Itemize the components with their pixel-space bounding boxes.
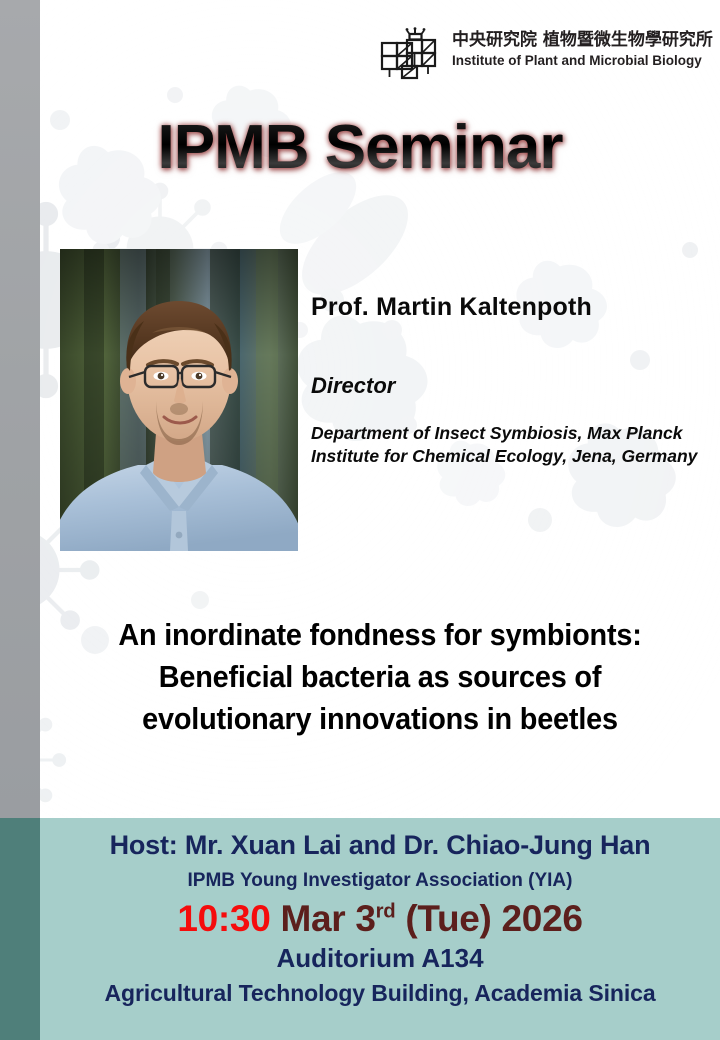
institute-name-chinese: 中央研究院 植物暨微生物學研究所 [452,31,713,51]
seminar-poster: 中央研究院 植物暨微生物學研究所 Institute of Plant and … [0,0,720,1040]
institute-name-english: Institute of Plant and Microbial Biology [452,53,713,70]
event-date-suffix: (Tue) 2026 [395,898,582,939]
event-date-ordinal: rd [376,900,396,922]
event-date-prefix: Mar 3 [271,898,376,939]
ipmb-academia-sinica-logo-icon [378,24,442,82]
speaker-role: Director [311,374,709,398]
talk-title-line-2: Beneficial bacteria as sources of [64,656,696,698]
address-line: Agricultural Technology Building, Academ… [40,980,720,1006]
speaker-name: Prof. Martin Kaltenpoth [311,294,709,322]
event-details-panel: Host: Mr. Xuan Lai and Dr. Chiao-Jung Ha… [40,818,720,1040]
host-line: Host: Mr. Xuan Lai and Dr. Chiao-Jung Ha… [40,830,720,860]
seminar-title: IPMB Seminar [0,112,720,183]
speaker-photo [60,249,298,551]
venue-line: Auditorium A134 [40,944,720,974]
institute-name-block: 中央研究院 植物暨微生物學研究所 Institute of Plant and … [452,24,713,69]
speaker-info: Prof. Martin Kaltenpoth Director Departm… [311,294,709,468]
talk-title-line-3: evolutionary innovations in beetles [64,698,696,740]
institute-header: 中央研究院 植物暨微生物學研究所 Institute of Plant and … [378,24,713,82]
datetime-line: 10:30 Mar 3rd (Tue) 2026 [40,898,720,941]
speaker-affiliation: Department of Insect Symbiosis, Max Plan… [311,422,709,468]
talk-title-line-1: An inordinate fondness for symbionts: [64,614,696,656]
talk-title: An inordinate fondness for symbionts: Be… [64,614,696,740]
left-accent-bar-teal [0,818,40,1040]
event-time: 10:30 [177,898,270,939]
organizer-line: IPMB Young Investigator Association (YIA… [40,870,720,891]
